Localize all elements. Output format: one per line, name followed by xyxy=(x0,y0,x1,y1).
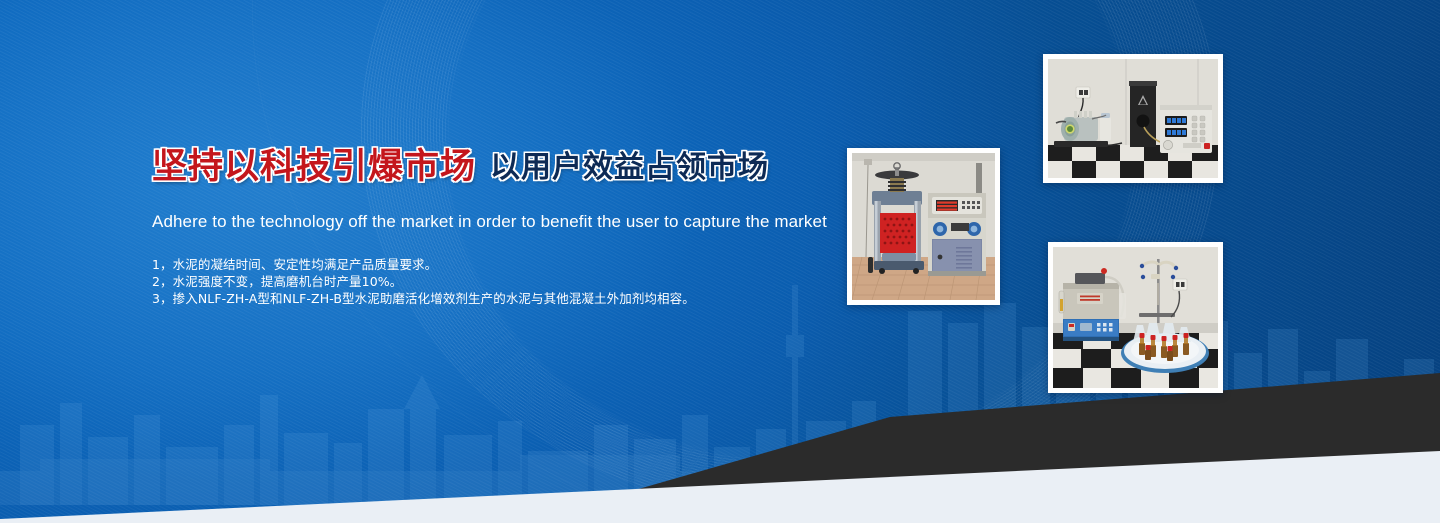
banner-copy: 坚持以科技引爆市场 以用户效益占领市场 Adhere to the techno… xyxy=(152,150,792,307)
bottom-light-wedge xyxy=(0,333,1440,523)
photo-mixer-and-sample-bottles-image xyxy=(1053,247,1218,388)
subheadline: Adhere to the technology off the market … xyxy=(152,212,792,232)
headline: 坚持以科技引爆市场 以用户效益占领市场 xyxy=(152,150,792,185)
feature-bullet-3: 3，掺入NLF-ZH-A型和NLF-ZH-B型水泥助磨活化增效剂生产的水泥与其他… xyxy=(152,290,792,307)
photo-compression-testing-machine xyxy=(847,148,1000,305)
feature-bullet-list: 1，水泥的凝结时间、安定性均满足产品质量要求。 2，水泥强度不变，提高磨机台时产… xyxy=(152,256,792,307)
headline-secondary: 以用户效益占领市场 xyxy=(490,153,769,185)
photo-mixer-and-sample-bottles xyxy=(1048,242,1223,393)
feature-bullet-2: 2，水泥强度不变，提高磨机台时产量10%。 xyxy=(152,273,792,290)
headline-primary: 坚持以科技引爆市场 xyxy=(152,150,476,185)
photo-vacuum-pump-and-controller-image xyxy=(1048,59,1218,178)
hero-banner: 坚持以科技引爆市场 以用户效益占领市场 Adhere to the techno… xyxy=(0,0,1440,523)
feature-bullet-1: 1，水泥的凝结时间、安定性均满足产品质量要求。 xyxy=(152,256,792,273)
photo-vacuum-pump-and-controller xyxy=(1043,54,1223,183)
photo-compression-testing-machine-image xyxy=(852,153,995,300)
